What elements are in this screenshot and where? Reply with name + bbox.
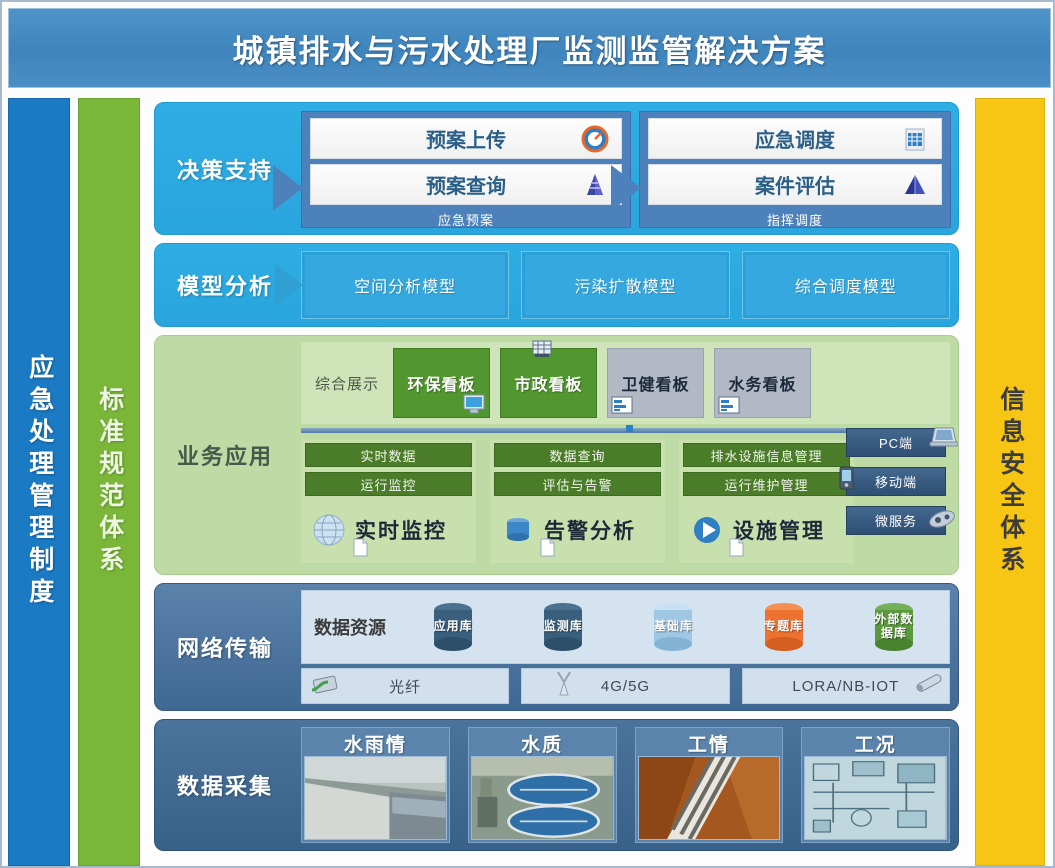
transport-label: LORA/NB-IOT [792, 678, 899, 695]
layer-network-label: 网络传输 [155, 584, 295, 710]
layer-model-analysis: 模型分析 空间分析模型 污染扩散模型 综合调度模型 [154, 243, 959, 327]
globe-icon [309, 510, 349, 550]
kanban-health[interactable]: 卫健看板 [607, 348, 704, 418]
pillar-standards-system: 标准规范体系 [78, 98, 140, 866]
business-pill-label: 运行维护管理 [724, 475, 808, 494]
kanban-row-title: 综合展示 [301, 373, 393, 394]
decision-item-label: 应急调度 [755, 124, 835, 153]
mobile-icon [831, 466, 861, 490]
database-thematic[interactable]: 专题库 [755, 600, 813, 654]
laptop-icon [929, 425, 959, 449]
layer-decision-label: 决策支持 [155, 103, 295, 234]
database-label: 应用库 [434, 620, 473, 634]
chart-icon [718, 395, 740, 415]
treatment-pond-photo [471, 756, 614, 840]
page-title: 城镇排水与污水处理厂监测监管解决方案 [233, 26, 827, 71]
database-label: 基础库 [654, 620, 693, 634]
business-pill[interactable]: 运行维护管理 [683, 472, 850, 496]
canal-photo [304, 756, 447, 840]
decision-item-case-assessment[interactable]: 案件评估 [648, 164, 942, 205]
pillar-standard-label: 标准规范体系 [95, 386, 123, 578]
model-box-integrated-dispatch[interactable]: 综合调度模型 [742, 251, 950, 319]
chevron-right-icon [611, 165, 641, 211]
decision-item-emergency-dispatch[interactable]: 应急调度 [648, 118, 942, 159]
database-monitoring[interactable]: 监测库 [534, 600, 592, 654]
decision-item-plan-upload[interactable]: 预案上传 [310, 118, 622, 159]
decision-item-label: 案件评估 [755, 170, 835, 199]
decision-group-caption: 应急预案 [310, 210, 622, 229]
model-box-spatial[interactable]: 空间分析模型 [301, 251, 509, 319]
monitor-icon [463, 394, 485, 414]
business-feature-facility-management[interactable]: 设施管理 [683, 501, 850, 559]
diagram-title-bar: 城镇排水与污水处理厂监测监管解决方案 [8, 8, 1051, 88]
business-pill-label: 排水设施信息管理 [710, 446, 822, 465]
database-foundation[interactable]: 基础库 [644, 600, 702, 654]
decision-group-caption: 指挥调度 [648, 210, 942, 229]
data-resource-panel: 数据资源 应用库 [301, 590, 950, 664]
layer-model-label: 模型分析 [155, 244, 295, 326]
decision-group-command-dispatch: 应急调度 案件评估 [639, 111, 951, 228]
database-label: 专题库 [764, 620, 803, 634]
kanban-water-affairs[interactable]: 水务看板 [714, 348, 811, 418]
business-pill[interactable]: 实时数据 [305, 443, 472, 467]
business-column-alarm: 数据查询 评估与告警 [490, 439, 665, 563]
acquisition-card-rainfall[interactable]: 水雨情 [301, 727, 450, 843]
business-pill[interactable]: 数据查询 [494, 443, 661, 467]
database-label: 外部数据库 [874, 613, 914, 641]
fiber-icon [308, 672, 344, 698]
layer-network-transport: 网络传输 数据资源 应用库 [154, 583, 959, 711]
transport-fiber[interactable]: 光纤 [301, 668, 509, 704]
service-icon [927, 507, 957, 531]
layer-business-label: 业务应用 [155, 336, 295, 574]
sensor-icon [911, 670, 947, 696]
decision-item-label: 预案上传 [426, 124, 506, 153]
business-pill-label: 评估与告警 [542, 475, 612, 494]
terminal-label: 微服务 [875, 511, 917, 530]
kanban-municipal[interactable]: 市政看板 [500, 348, 597, 418]
layer-stack: 决策支持 预案上传 预案查询 [154, 102, 959, 864]
play-icon [687, 510, 727, 550]
acquisition-card-label: 工情 [638, 730, 781, 756]
kanban-label: 卫健看板 [621, 371, 689, 395]
business-column-monitoring: 实时数据 运行监控 [301, 439, 476, 563]
document-icon [540, 538, 555, 557]
acquisition-card-label: 水雨情 [304, 730, 447, 756]
transport-label: 光纤 [389, 676, 421, 697]
layer-decision-support: 决策支持 预案上传 预案查询 [154, 102, 959, 235]
acquisition-card-label: 工况 [804, 730, 947, 756]
business-feature-label: 实时监控 [355, 515, 447, 545]
business-feature-realtime-monitoring[interactable]: 实时监控 [305, 501, 472, 559]
pillar-emergency-label: 应急处理管理制度 [25, 354, 53, 610]
terminal-pc[interactable]: PC端 [846, 428, 946, 457]
antenna-icon [546, 670, 582, 696]
layer-data-acquisition: 数据采集 水雨情 [154, 719, 959, 851]
decision-item-label: 预案查询 [426, 170, 506, 199]
layer-data-label: 数据采集 [155, 720, 295, 850]
business-pill[interactable]: 排水设施信息管理 [683, 443, 850, 467]
acquisition-card-water-quality[interactable]: 水质 [468, 727, 617, 843]
building-icon [531, 339, 553, 359]
business-feature-label: 告警分析 [544, 515, 636, 545]
decision-group-emergency-plan: 预案上传 预案查询 [301, 111, 631, 228]
gauge-icon [581, 125, 609, 153]
document-icon [729, 538, 744, 557]
transport-cellular[interactable]: 4G/5G [521, 668, 729, 704]
transport-label: 4G/5G [601, 678, 650, 695]
terminal-microservice[interactable]: 微服务 [846, 506, 946, 535]
layer-business-application: 业务应用 综合展示 环保看板 [154, 335, 959, 575]
kanban-label: 水务看板 [728, 371, 796, 395]
business-column-facility: 排水设施信息管理 运行维护管理 设施 [679, 439, 854, 563]
database-icon [498, 510, 538, 550]
kanban-label: 环保看板 [407, 371, 475, 395]
table-grid-icon [901, 125, 929, 153]
pillar-security-label: 信息安全体系 [996, 386, 1024, 578]
model-box-pollution-diffusion[interactable]: 污染扩散模型 [521, 251, 729, 319]
business-pill-label: 运行监控 [360, 475, 416, 494]
pillar-emergency-management: 应急处理管理制度 [8, 98, 70, 866]
chart-icon [611, 395, 633, 415]
terminal-column: PC端 移动端 [846, 428, 946, 545]
pipeline-photo [638, 756, 781, 840]
kanban-label: 市政看板 [514, 371, 582, 395]
terminal-label: 移动端 [875, 472, 917, 491]
kanban-environment[interactable]: 环保看板 [393, 348, 490, 418]
terminal-mobile[interactable]: 移动端 [846, 467, 946, 496]
kanban-row: 综合展示 环保看板 市政看板 [301, 342, 950, 424]
business-feature-alarm-analysis[interactable]: 告警分析 [494, 501, 661, 559]
acquisition-card-label: 水质 [471, 730, 614, 756]
business-pill[interactable]: 评估与告警 [494, 472, 661, 496]
database-label: 监测库 [544, 620, 583, 634]
document-icon [353, 538, 368, 557]
business-pill[interactable]: 运行监控 [305, 472, 472, 496]
acquisition-card-operating-condition[interactable]: 工况 [801, 727, 950, 843]
database-application[interactable]: 应用库 [424, 600, 482, 654]
business-pill-label: 实时数据 [360, 446, 416, 465]
database-external[interactable]: 外部数据库 [865, 600, 923, 654]
pyramid-icon [581, 171, 609, 199]
decision-item-plan-query[interactable]: 预案查询 [310, 164, 622, 205]
model-box-label: 污染扩散模型 [574, 273, 676, 297]
acquisition-card-engineering[interactable]: 工情 [635, 727, 784, 843]
pyramid-icon [901, 171, 929, 199]
business-pill-label: 数据查询 [549, 446, 605, 465]
diagram-root: 城镇排水与污水处理厂监测监管解决方案 应急处理管理制度 标准规范体系 信息安全体… [0, 0, 1055, 868]
business-feature-label: 设施管理 [733, 515, 825, 545]
model-box-label: 综合调度模型 [795, 273, 897, 297]
data-resource-title: 数据资源 [302, 614, 398, 640]
transport-lora-nbiot[interactable]: LORA/NB-IOT [742, 668, 950, 704]
model-box-label: 空间分析模型 [354, 273, 456, 297]
pillar-information-security: 信息安全体系 [975, 98, 1045, 866]
schematic-photo [804, 756, 947, 840]
terminal-label: PC端 [879, 433, 913, 452]
